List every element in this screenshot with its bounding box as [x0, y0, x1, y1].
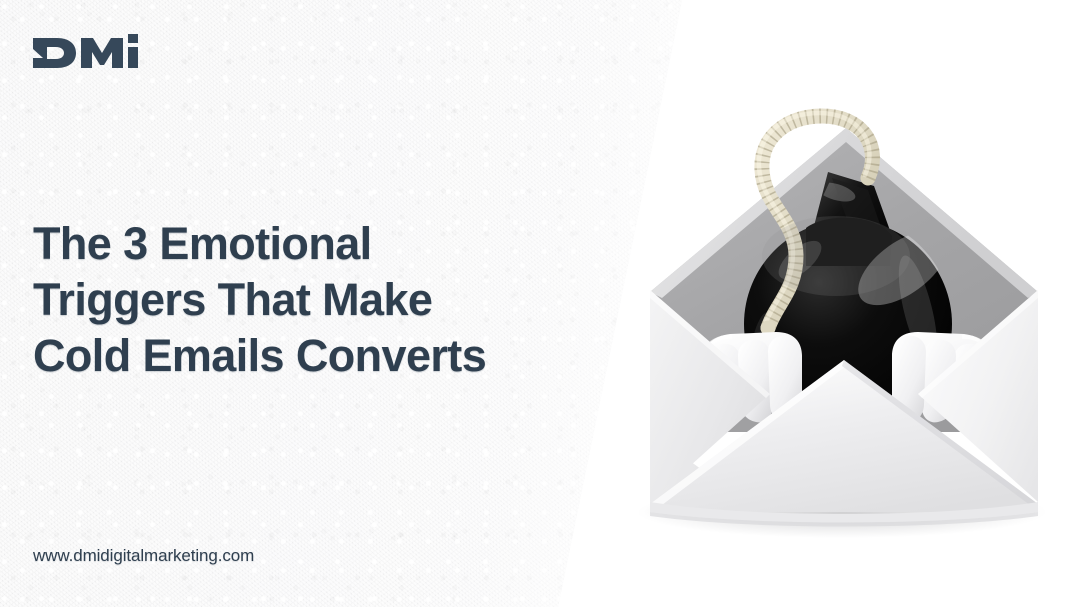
envelope-bomb-illustration — [600, 60, 1079, 560]
brand-logo[interactable]: DMi — [31, 27, 146, 73]
page-title: The 3 Emotional Triggers That Make Cold … — [33, 216, 573, 384]
headline-line-1: The 3 Emotional — [33, 216, 573, 272]
envelope-bomb-graphic — [600, 60, 1079, 560]
headline-line-2: Triggers That Make — [33, 272, 573, 328]
headline-line-3: Cold Emails Converts — [33, 328, 573, 384]
poster-canvas: DMi The 3 Emotional Triggers That Make C… — [0, 0, 1079, 607]
website-url[interactable]: www.dmidigitalmarketing.com — [33, 546, 254, 566]
dmi-logo-icon — [31, 27, 146, 73]
